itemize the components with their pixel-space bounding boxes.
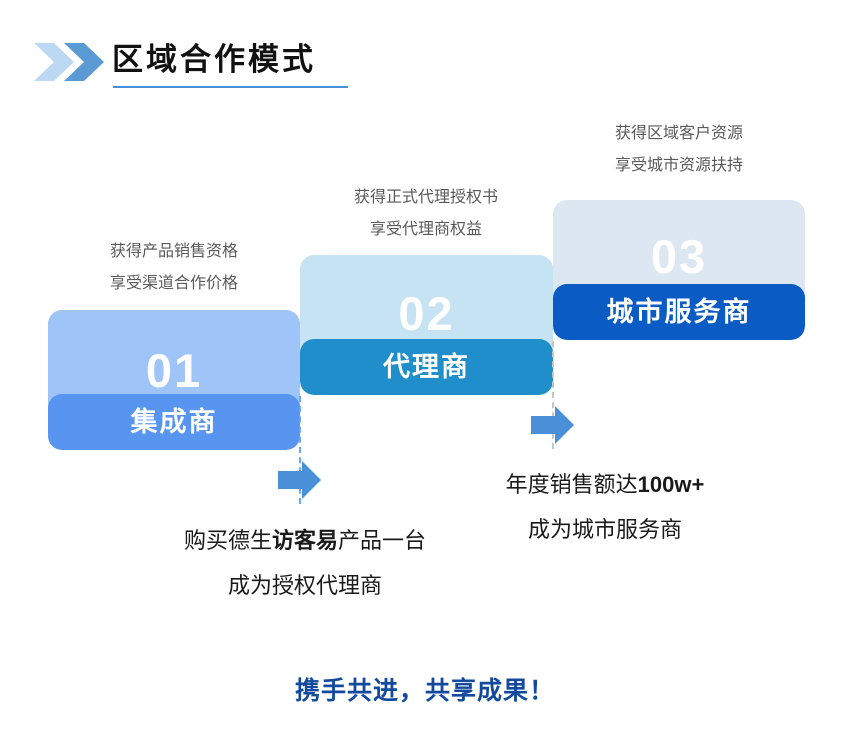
step-2-banner: 代理商 xyxy=(300,339,553,395)
transition-1-prefix: 购买德生 xyxy=(184,528,272,553)
double-chevron-right-icon xyxy=(34,43,106,81)
transition-2-caption: 年度销售额达100w+ 成为城市服务商 xyxy=(435,462,775,552)
step-2-role-label: 代理商 xyxy=(300,339,553,395)
step-card-3[interactable]: 03 城市服务商 xyxy=(553,200,805,340)
transition-1-line-1: 购买德生访客易产品一台 xyxy=(135,518,475,563)
step-3-benefit-2: 享受城市资源扶持 xyxy=(553,150,805,182)
transition-1-line-2: 成为授权代理商 xyxy=(135,563,475,608)
page-title: 区域合作模式 xyxy=(112,40,316,80)
transition-2-line-1: 年度销售额达100w+ xyxy=(435,462,775,507)
transition-1-highlight: 访客易 xyxy=(272,528,338,553)
step-3-banner: 城市服务商 xyxy=(553,284,805,340)
step-1-benefits: 获得产品销售资格 享受渠道合作价格 xyxy=(48,236,300,300)
transition-1-suffix: 产品一台 xyxy=(338,528,426,553)
step-1-role-label: 集成商 xyxy=(48,394,300,450)
step-2-benefits: 获得正式代理授权书 享受代理商权益 xyxy=(300,182,552,246)
transition-2-prefix: 年度销售额达 xyxy=(506,472,638,497)
step-1-number: 01 xyxy=(48,346,300,396)
footer-slogan: 携手共进，共享成果！ xyxy=(0,671,850,707)
arrow-right-icon xyxy=(531,405,575,445)
arrow-right-icon xyxy=(278,460,322,500)
step-3-role-label: 城市服务商 xyxy=(553,284,805,340)
step-1-banner: 集成商 xyxy=(48,394,300,450)
transition-1-caption: 购买德生访客易产品一台 成为授权代理商 xyxy=(135,518,475,608)
step-2-benefit-1: 获得正式代理授权书 xyxy=(300,182,552,214)
step-card-2[interactable]: 02 代理商 xyxy=(300,255,553,395)
step-3-benefit-1: 获得区域客户资源 xyxy=(553,118,805,150)
transition-2-line-2: 成为城市服务商 xyxy=(435,507,775,552)
transition-2-highlight: 100w+ xyxy=(638,472,705,497)
poster-canvas: 区域合作模式 获得产品销售资格 享受渠道合作价格 获得正式代理授权书 享受代理商… xyxy=(0,0,850,737)
title-underline xyxy=(113,86,348,88)
step-2-number: 02 xyxy=(300,289,553,339)
header: 区域合作模式 xyxy=(0,0,850,110)
step-3-number: 03 xyxy=(553,232,805,282)
step-2-benefit-2: 享受代理商权益 xyxy=(300,214,552,246)
step-3-benefits: 获得区域客户资源 享受城市资源扶持 xyxy=(553,118,805,182)
step-1-benefit-2: 享受渠道合作价格 xyxy=(48,268,300,300)
step-card-1[interactable]: 01 集成商 xyxy=(48,310,300,450)
step-1-benefit-1: 获得产品销售资格 xyxy=(48,236,300,268)
